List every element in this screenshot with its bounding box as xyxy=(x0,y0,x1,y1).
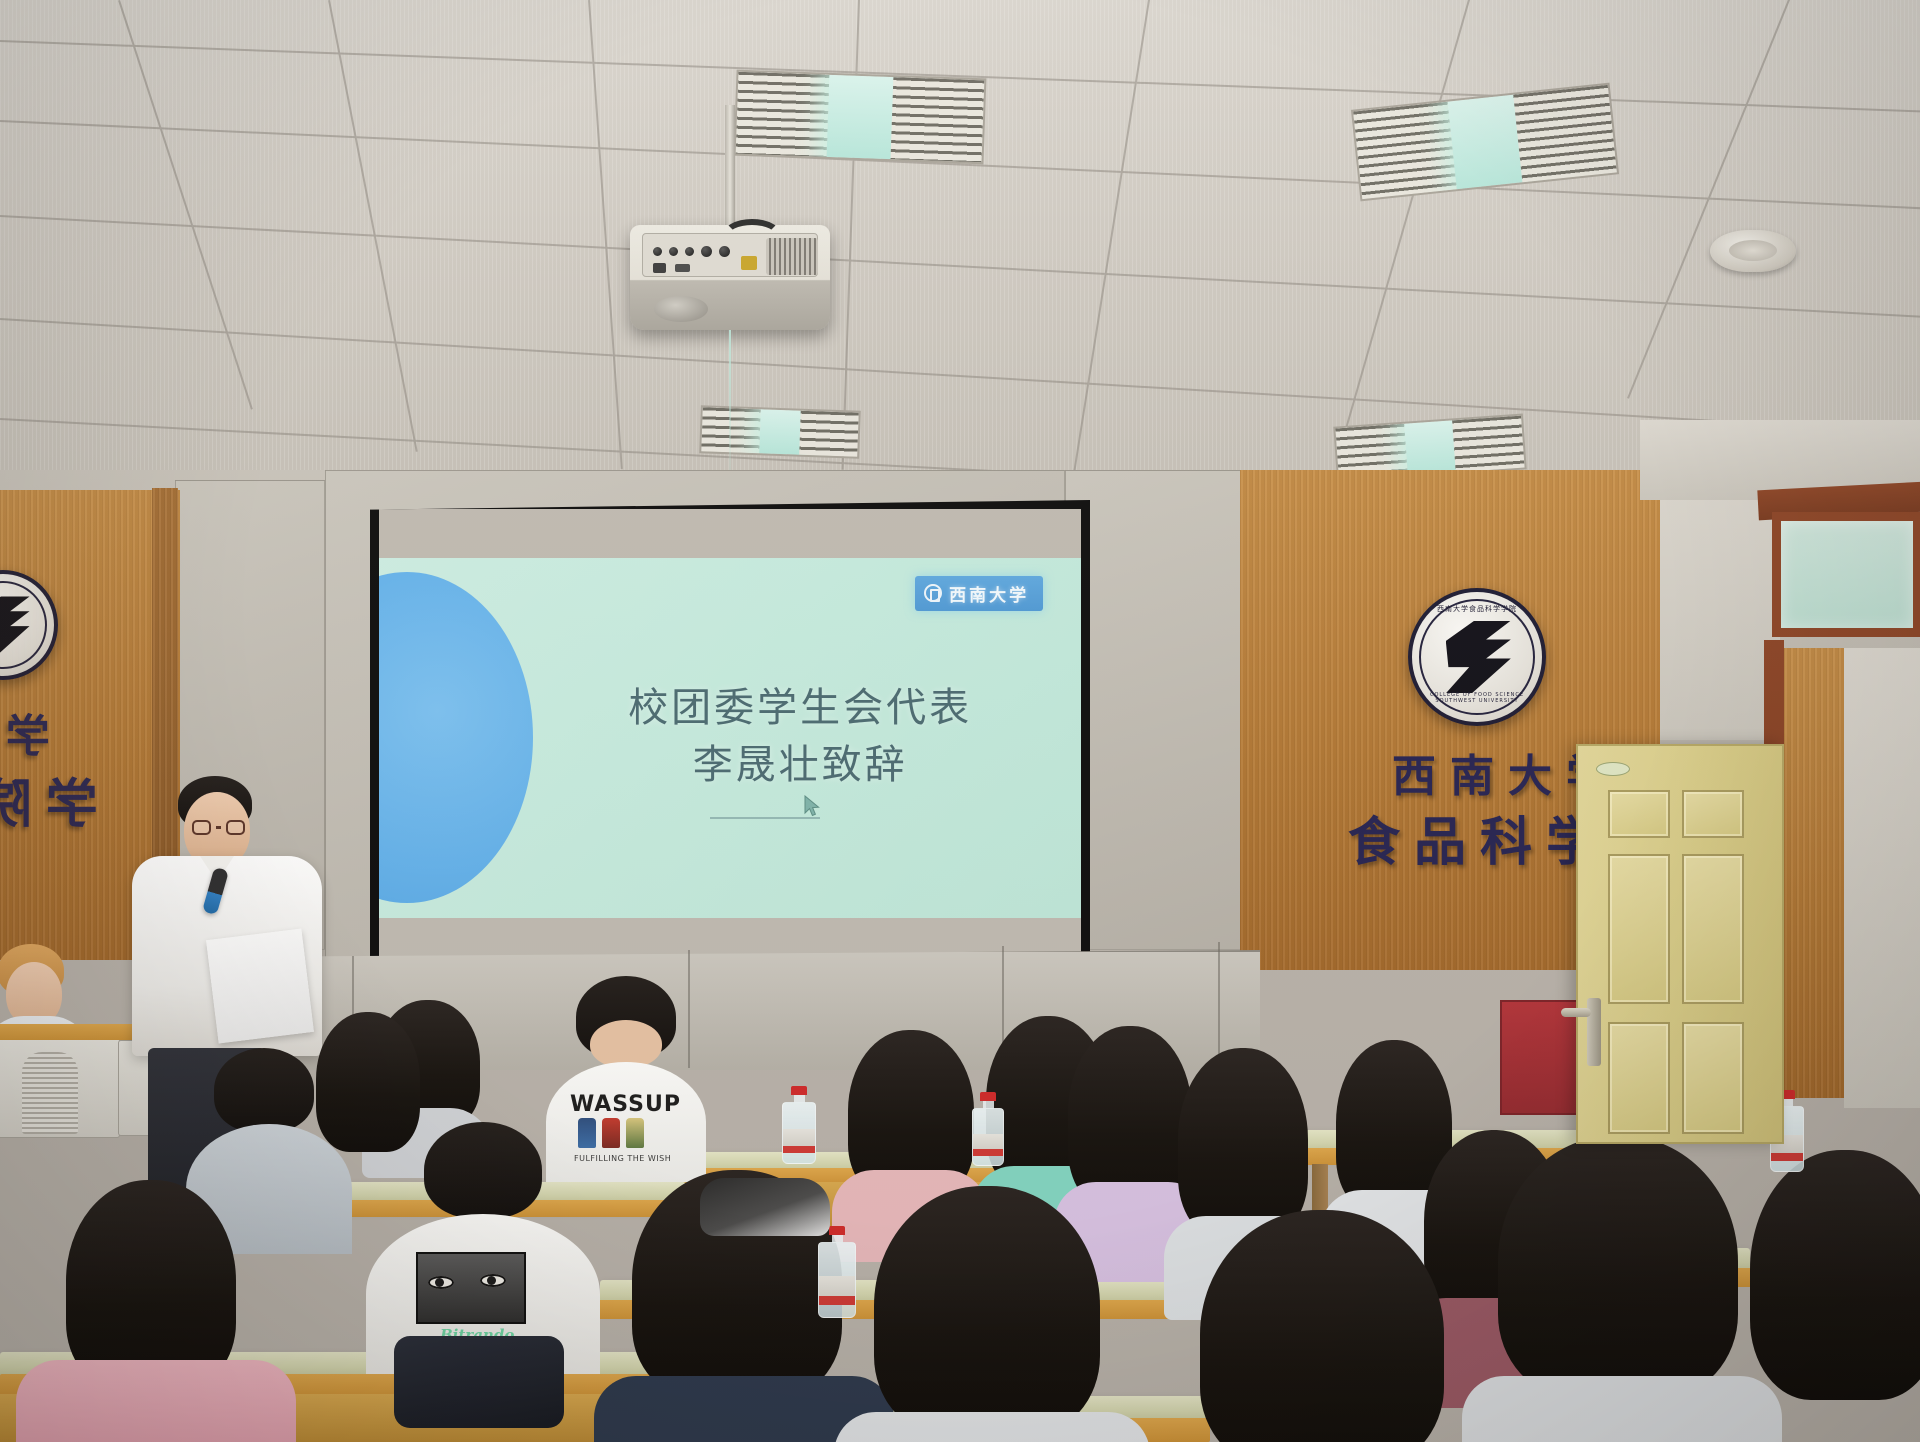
bottle-label-accent xyxy=(973,1149,1003,1156)
bottle-label xyxy=(973,1134,1003,1151)
slide-decorative-circle xyxy=(379,572,533,904)
slide-logo-text: 西南大学 xyxy=(949,581,1029,606)
door-panel xyxy=(1608,854,1670,1004)
bottle-body xyxy=(818,1242,856,1318)
bottle-cap xyxy=(980,1092,996,1101)
projector-lens xyxy=(654,296,708,322)
lecture-hall-photo: 西南大学食品科学学院 COLLEGE OF FOOD SCIENCE SOUTH… xyxy=(0,0,1920,1442)
ceiling-projector xyxy=(630,225,830,330)
torso xyxy=(1462,1376,1782,1442)
hair xyxy=(1498,1136,1738,1398)
bottle-body xyxy=(782,1102,816,1164)
bottle-label-accent xyxy=(783,1146,815,1153)
slide-title: 校团委学生会代表 李晟壮致辞 xyxy=(576,680,1025,794)
hair xyxy=(1750,1150,1920,1400)
door-panel xyxy=(1608,790,1670,838)
projection-screen: 西南大学 校团委学生会代表 李晟壮致辞 xyxy=(370,500,1090,980)
tshirt-anime-graphic xyxy=(416,1252,526,1324)
water-bottle xyxy=(782,1086,816,1164)
seal-monogram xyxy=(0,596,30,653)
seal-monogram xyxy=(1446,621,1511,694)
podium-speaker-grille xyxy=(22,1052,78,1134)
door-jamb-right xyxy=(1784,648,1844,1098)
seal-arc-top-text: 西南大学食品科学学院 xyxy=(1412,604,1542,614)
door-panel xyxy=(1682,854,1744,1004)
hair xyxy=(424,1122,542,1218)
ceiling-light-fixture xyxy=(699,405,861,459)
head xyxy=(590,1020,662,1068)
classroom-door[interactable] xyxy=(1576,744,1784,1144)
ceiling-light-fixture xyxy=(734,70,987,165)
jacket-on-desk xyxy=(700,1178,830,1236)
slide-title-line1: 校团委学生会代表 xyxy=(576,680,1025,737)
bottle-label xyxy=(819,1276,855,1298)
presentation-slide: 西南大学 校团委学生会代表 李晟壮致辞 xyxy=(379,558,1081,918)
slide-university-logo: 西南大学 xyxy=(915,576,1043,611)
door-panel xyxy=(1608,1022,1670,1134)
projector-mount-pole xyxy=(725,105,735,235)
audience-member-foreground xyxy=(1740,1150,1920,1442)
hair xyxy=(874,1186,1100,1436)
audience-member-foreground xyxy=(1470,1136,1760,1442)
door-panel xyxy=(1682,790,1744,838)
water-bottle xyxy=(972,1092,1004,1166)
transom-window xyxy=(1772,512,1920,637)
bottle-label-accent xyxy=(819,1296,855,1305)
bottle-label-accent xyxy=(1771,1153,1803,1161)
wall-right-edge xyxy=(1844,648,1920,1108)
bottle-label xyxy=(783,1129,815,1147)
speech-papers xyxy=(206,929,314,1044)
university-seal-icon xyxy=(924,584,942,602)
seal-arc-bottom-text: COLLEGE OF FOOD SCIENCE SOUTHWEST UNIVER… xyxy=(1412,692,1542,704)
wall-signage-left-partial-1: 学 xyxy=(0,700,50,764)
door-handle[interactable] xyxy=(1587,998,1601,1066)
water-bottle xyxy=(818,1226,856,1318)
wall-panel-right xyxy=(1065,470,1245,950)
door-panel xyxy=(1682,1022,1744,1134)
bottle-body xyxy=(972,1108,1004,1166)
college-seal-icon: 西南大学食品科学学院 COLLEGE OF FOOD SCIENCE SOUTH… xyxy=(1408,588,1546,726)
wall-signage-left-partial-2: 学院 xyxy=(0,762,98,837)
tshirt-graphic-text: WASSUP xyxy=(570,1092,681,1117)
glasses-icon xyxy=(192,820,245,835)
ceiling xyxy=(0,0,1920,520)
projector-cable xyxy=(722,219,782,253)
torso xyxy=(834,1412,1150,1442)
projection-surface: 西南大学 校团委学生会代表 李晟壮致辞 xyxy=(379,509,1081,971)
hair xyxy=(66,1180,236,1390)
audience-member-foreground xyxy=(36,1180,266,1442)
tshirt-character-art xyxy=(578,1118,644,1148)
torso xyxy=(16,1360,296,1442)
audience-member-foreground xyxy=(1170,1210,1470,1442)
bottle-cap xyxy=(791,1086,807,1095)
audience-member-foreground xyxy=(848,1186,1128,1442)
slide-title-line2: 李晟壮致辞 xyxy=(576,737,1025,794)
hair xyxy=(214,1048,314,1132)
projector-body xyxy=(630,225,830,330)
backpack-on-desk xyxy=(394,1336,564,1428)
tshirt-subtext: FULFILLING THE WISH xyxy=(574,1154,671,1163)
door-sticker xyxy=(1596,762,1630,776)
smoke-detector-icon xyxy=(1710,230,1796,272)
bottle-cap xyxy=(829,1226,845,1235)
audience-member-anime-shirt: Bitrando ENO xyxy=(388,1122,578,1352)
board-seam xyxy=(1218,942,1220,1064)
hair xyxy=(1200,1210,1444,1442)
